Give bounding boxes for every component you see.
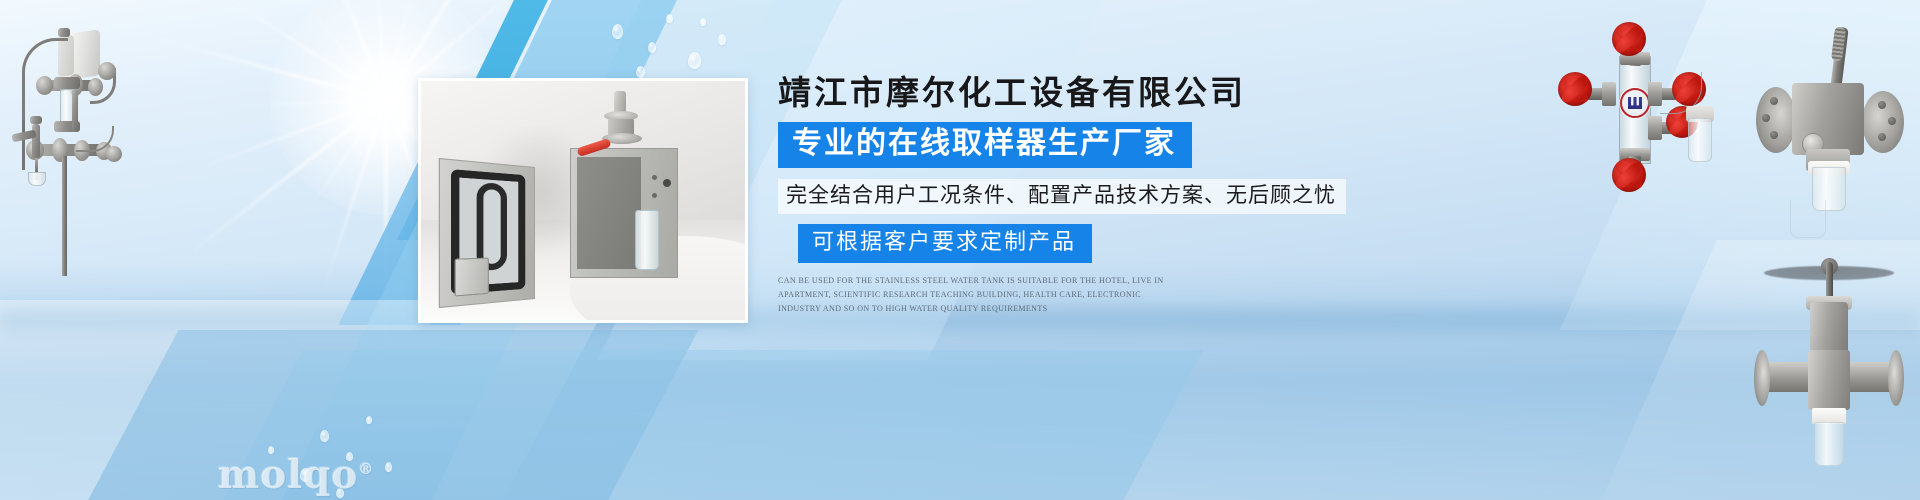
center-product-photo xyxy=(418,78,748,323)
brand-watermark: molqo® xyxy=(218,452,374,498)
watermark-text: molqo xyxy=(218,452,358,498)
company-name: 靖江市摩尔化工设备有限公司 xyxy=(778,72,1398,113)
handwheel-left xyxy=(1558,72,1592,106)
registered-mark-icon: ® xyxy=(358,460,374,478)
handwheel-top xyxy=(1612,22,1646,56)
rod-operated-sampler-product xyxy=(1742,258,1912,478)
flanged-lever-valve-product xyxy=(1750,25,1910,215)
custom-product-tag: 可根据客户要求定制产品 xyxy=(798,224,1092,262)
ghost-bottle-outline xyxy=(1790,200,1826,238)
english-description: CAN BE USED FOR THE STAINLESS STEEL WATE… xyxy=(778,274,1178,316)
banner-text-block: 靖江市摩尔化工设备有限公司 专业的在线取样器生产厂家 完全结合用户工况条件、配置… xyxy=(778,72,1398,316)
handwheel-bottom xyxy=(1612,158,1646,192)
headline-banner: 专业的在线取样器生产厂家 xyxy=(778,122,1192,168)
subline-text: 完全结合用户工况条件、配置产品技术方案、无后顾之忧 xyxy=(778,179,1346,214)
cross-sampler-product xyxy=(1540,30,1730,190)
product-banner: 靖江市摩尔化工设备有限公司 专业的在线取样器生产厂家 完全结合用户工况条件、配置… xyxy=(0,0,1920,500)
left-product-illustration xyxy=(10,20,210,330)
